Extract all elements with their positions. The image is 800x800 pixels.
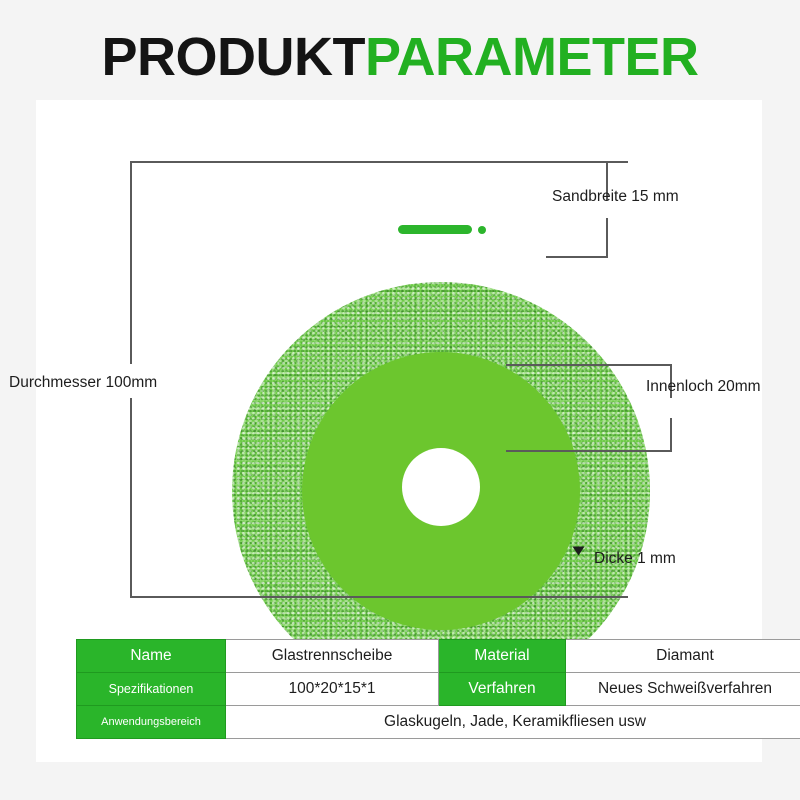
table-value-name: Glastrennscheibe bbox=[226, 640, 439, 673]
table-header-name: Name bbox=[77, 640, 226, 673]
glass-cutting-disc bbox=[232, 282, 650, 700]
dimension-line-bottom bbox=[130, 596, 628, 598]
innenloch-leader-bottom bbox=[506, 450, 672, 452]
table-row: Anwendungsbereich Glaskugeln, Jade, Kera… bbox=[77, 706, 800, 739]
specification-table: Name Glastrennscheibe Material Diamant S… bbox=[76, 639, 800, 739]
sandbreite-leader-bottom bbox=[546, 256, 608, 258]
dimension-line-left-upper bbox=[130, 161, 132, 364]
table-row: Spezifikationen 100*20*15*1 Verfahren Ne… bbox=[77, 673, 800, 706]
sandbreite-leader-top bbox=[546, 161, 608, 163]
disc-edge-bar-icon bbox=[398, 225, 472, 234]
page-title-primary: PRODUKT bbox=[101, 27, 365, 87]
table-row: Name Glastrennscheibe Material Diamant bbox=[77, 640, 800, 673]
annotation-label-sandbreite: Sandbreite 15 mm bbox=[552, 188, 679, 206]
innenloch-bracket-lower bbox=[670, 418, 672, 452]
disc-edge-side-view bbox=[398, 222, 490, 236]
sandbreite-bracket-lower bbox=[606, 218, 608, 258]
table-value-verfahren: Neues Schweißverfahren bbox=[566, 673, 800, 706]
table-header-spezifikationen: Spezifikationen bbox=[77, 673, 226, 706]
table-header-anwendungsbereich: Anwendungsbereich bbox=[77, 706, 226, 739]
page-title-accent: PARAMETER bbox=[365, 27, 699, 87]
annotation-label-durchmesser: Durchmesser 100mm bbox=[9, 374, 157, 392]
table-value-spezifikationen: 100*20*15*1 bbox=[226, 673, 439, 706]
table-header-material: Material bbox=[439, 640, 566, 673]
table-header-verfahren: Verfahren bbox=[439, 673, 566, 706]
innenloch-leader-top bbox=[506, 364, 672, 366]
page-title: PRODUKTPARAMETER bbox=[0, 24, 800, 90]
disc-edge-dot-icon bbox=[478, 226, 486, 234]
disc-center-hole bbox=[402, 448, 480, 526]
dimension-line-left-lower bbox=[130, 398, 132, 598]
table-value-anwendungsbereich: Glaskugeln, Jade, Keramikfliesen usw bbox=[226, 706, 800, 739]
table-value-material: Diamant bbox=[566, 640, 800, 673]
dicke-arrow-icon bbox=[573, 547, 585, 556]
annotation-label-dicke: Dicke 1 mm bbox=[594, 550, 676, 568]
annotation-label-innenloch: Innenloch 20mm bbox=[646, 378, 761, 396]
